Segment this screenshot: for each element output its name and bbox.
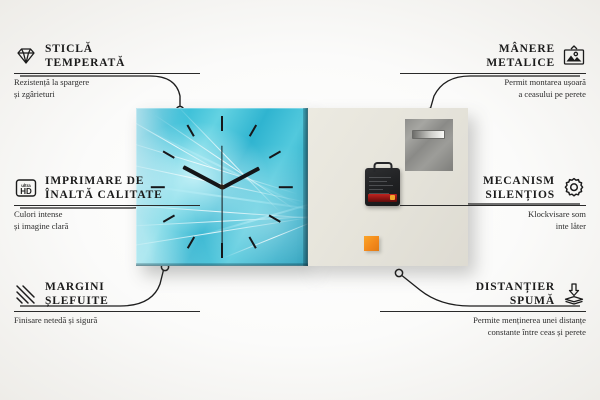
battery (368, 194, 397, 202)
foam-spacer-pad (364, 236, 379, 251)
feature-title: MARGINI ȘLEFUITE (45, 280, 109, 308)
infographic-canvas: STICLĂ TEMPERATĂ Rezistență la spargere … (0, 0, 600, 400)
feature-tempered-glass: STICLĂ TEMPERATĂ Rezistență la spargere … (14, 42, 200, 101)
picture-frame-hook-icon (562, 44, 586, 68)
feature-metal-handles: MÂNERE METALICE Permit montarea ușoară a… (400, 42, 586, 101)
metal-hanging-bracket (405, 119, 453, 171)
feature-title: DISTANȚIER SPUMĂ (476, 280, 555, 308)
feature-polished-edges: MARGINI ȘLEFUITE Finisare netedă și sigu… (14, 280, 200, 327)
feature-description: Permite menținerea unei distanțe constan… (380, 315, 586, 339)
feature-title: IMPRIMARE DE ÎNALTĂ CALITATE (45, 174, 163, 202)
feature-silent-mechanism: MECANISM SILENȚIOS Klockvisare som inte … (400, 174, 586, 233)
feature-high-quality-print: ultra HD IMPRIMARE DE ÎNALTĂ CALITATE Cu… (14, 174, 200, 233)
title-underline (400, 205, 586, 206)
svg-text:HD: HD (20, 187, 32, 196)
glass-bottom-bevel (136, 263, 308, 266)
title-underline (380, 311, 586, 312)
feature-description: Finisare netedă și sigură (14, 315, 200, 327)
polished-edges-icon (14, 282, 38, 306)
feature-description: Klockvisare som inte låter (400, 209, 586, 233)
ultra-hd-icon: ultra HD (14, 176, 38, 200)
title-underline (14, 205, 200, 206)
feature-description: Permit montarea ușoară a ceasului pe per… (400, 77, 586, 101)
connector-endpoint-foam-spacer (395, 269, 402, 276)
feature-description: Culori intense și imagine clară (14, 209, 200, 233)
diamond-icon (14, 44, 38, 68)
press-down-layers-icon (562, 282, 586, 306)
feature-foam-spacer: DISTANȚIER SPUMĂ Permite menținerea unei… (380, 280, 586, 339)
title-underline (14, 73, 200, 74)
title-underline (400, 73, 586, 74)
feature-title: MECANISM SILENȚIOS (483, 174, 555, 202)
feature-title: STICLĂ TEMPERATĂ (45, 42, 125, 70)
feature-description: Rezistență la spargere și zgârieturi (14, 77, 200, 101)
clock-mechanism-box (365, 168, 400, 206)
feature-title: MÂNERE METALICE (486, 42, 555, 70)
gear-icon (562, 176, 586, 200)
mechanism-hanger-tab (373, 162, 392, 172)
title-underline (14, 311, 200, 312)
